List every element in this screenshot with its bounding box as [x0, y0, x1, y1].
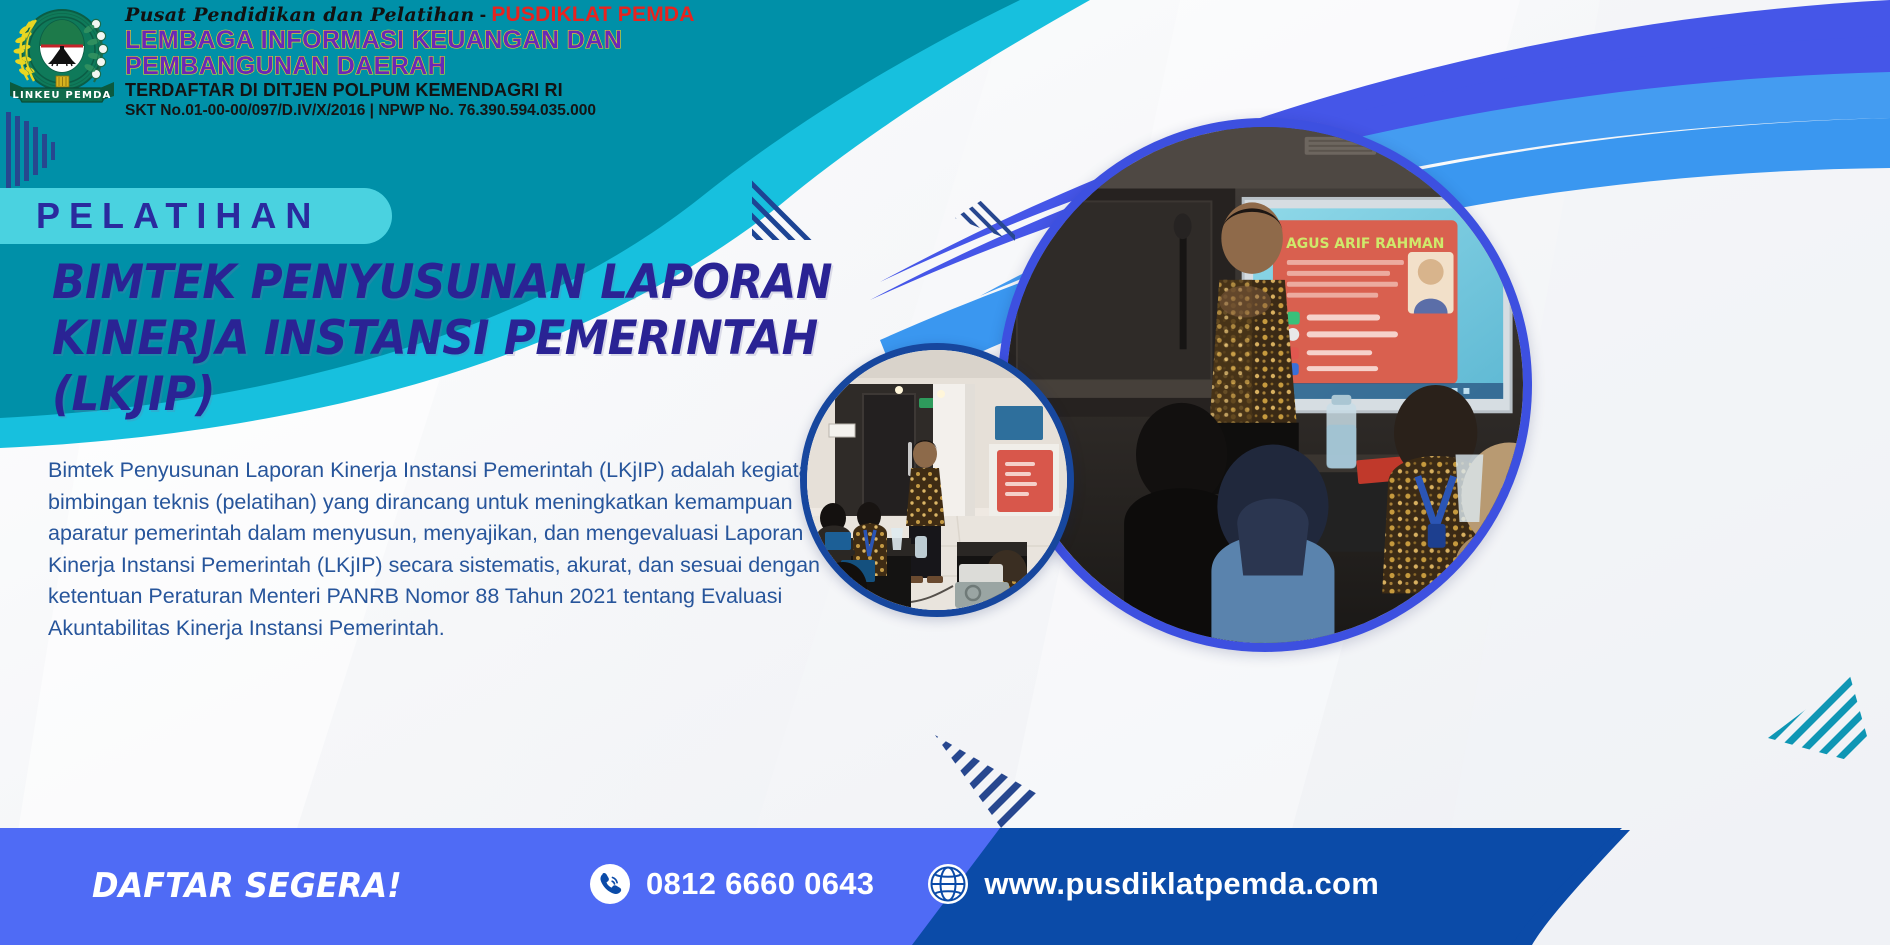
- page-title: BIMTEK PENYUSUNAN LAPORAN KINERJA INSTAN…: [52, 255, 872, 423]
- cta-label: DAFTAR SEGERA!: [92, 866, 402, 906]
- phone-number: 0812 6660 0643: [646, 866, 874, 902]
- header-script-text: Pusat Pendidikan dan Pelatihan: [125, 4, 474, 26]
- training-room-photo: [800, 343, 1074, 617]
- description-paragraph: Bimtek Penyusunan Laporan Kinerja Instan…: [48, 455, 838, 644]
- promotional-poster: LINKEU PEMDA Pusat Pendidikan dan Pelati…: [0, 0, 1890, 945]
- striped-triangle-bottom-center: [935, 735, 1039, 839]
- phone-contact[interactable]: 0812 6660 0643: [588, 862, 874, 906]
- header-registration-line: TERDAFTAR DI DITJEN POLPUM KEMENDAGRI RI: [125, 79, 945, 101]
- footer-bar: DAFTAR SEGERA! 0812 6660 0643: [0, 830, 1890, 945]
- title-line-1: BIMTEK PENYUSUNAN LAPORAN: [52, 255, 815, 311]
- header-dash: -: [474, 5, 491, 26]
- title-line-3: (LKJIP): [52, 367, 815, 423]
- striped-triangle-right: [1768, 676, 1876, 784]
- training-presenter-photo: AGUS ARIF RAHMAN: [998, 118, 1532, 652]
- contact-row: 0812 6660 0643: [588, 862, 1379, 906]
- website-contact[interactable]: www.pusdiklatpemda.com: [926, 862, 1379, 906]
- organization-header-text: Pusat Pendidikan dan Pelatihan - PUSDIKL…: [125, 4, 945, 120]
- logo-ribbon-text: LINKEU PEMDA: [12, 90, 111, 101]
- organization-header: LINKEU PEMDA Pusat Pendidikan dan Pelati…: [0, 0, 1010, 118]
- globe-icon: [926, 862, 970, 906]
- linkeu-pemda-logo: LINKEU PEMDA: [8, 2, 116, 106]
- header-institution-line-1: LEMBAGA INFORMASI KEUANGAN DAN: [125, 27, 945, 53]
- phone-icon: [588, 862, 632, 906]
- header-legal-numbers: SKT No.01-00-00/097/D.IV/X/2016 | NPWP N…: [125, 101, 945, 120]
- pelatihan-badge: PELATIHAN: [0, 188, 392, 244]
- header-institution-line-2: PEMBANGUNAN DAERAH: [125, 53, 945, 79]
- title-line-2: KINERJA INSTANSI PEMERINTAH: [52, 311, 815, 367]
- striped-triangle-top-center: [752, 148, 838, 240]
- header-brand-name: PUSDIKLAT PEMDA: [491, 3, 694, 26]
- striped-triangle-mid-left: [955, 178, 1015, 242]
- striped-triangle-left: [6, 112, 62, 190]
- slide-presenter-name: AGUS ARIF RAHMAN: [1286, 236, 1444, 252]
- pelatihan-badge-label: PELATIHAN: [36, 195, 320, 237]
- website-url: www.pusdiklatpemda.com: [984, 866, 1379, 902]
